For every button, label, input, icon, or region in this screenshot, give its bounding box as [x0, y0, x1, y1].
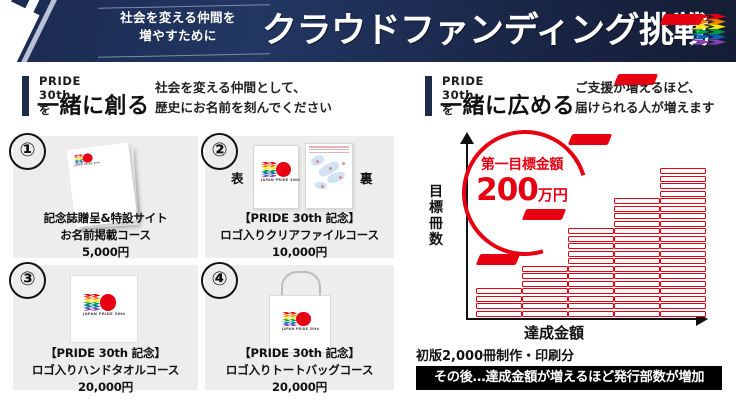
banner-subtitle: 社会を変える仲間を 増やすために [108, 9, 248, 45]
logo-chevron-stripe [91, 297, 101, 300]
book-layer [614, 303, 660, 309]
book-layer [614, 236, 660, 242]
book-layer [614, 288, 660, 294]
book-stack-bar [476, 288, 522, 318]
chevron-stripe [706, 29, 726, 34]
logo-red-circle [296, 312, 310, 326]
book-layer [522, 303, 568, 309]
book-layer [522, 273, 568, 279]
book-layer [614, 258, 660, 264]
book-stack-bar [568, 228, 614, 318]
reward-caption-line2: ロゴ入りトートバッグコース [205, 362, 394, 379]
book-layer [660, 168, 706, 174]
chevron-stripe [706, 19, 726, 24]
book-layer [660, 191, 706, 197]
book-layer [660, 258, 706, 264]
reward-number-badge: ④ [201, 262, 238, 299]
reward-caption: 記念誌贈呈&特設サイト お名前掲載コース 5,000円 [13, 210, 198, 260]
heading-description: 社会を変える仲間として、 歴史にお名前を刻んでください [155, 78, 332, 117]
tote-bag-illustration: JAPAN PRIDE 30th [261, 271, 337, 353]
goal-amount-unit: 万円 [538, 186, 568, 204]
y-axis-label-char: 冊 [426, 216, 446, 232]
heading-title: 一緒に創る [37, 88, 150, 120]
reward-card-3[interactable]: ③ JAPAN PRIDE 30th 【PRIDE 30th 記念】 ロゴ入りハ… [13, 265, 198, 390]
reward-card-4[interactable]: ④ JAPAN PRIDE 30th 【PRIDE 30th 記念】 ロゴ入りト… [205, 265, 394, 390]
book-layer [522, 266, 568, 272]
logo-red-circle [276, 162, 291, 177]
clear-file-front-illustration: JAPAN PRIDE 30th [253, 145, 299, 209]
book-layer [660, 243, 706, 249]
y-axis-label-char: 目 [426, 184, 446, 200]
logo-chevron-stripe [268, 162, 277, 165]
chevron-stripe [706, 39, 726, 44]
reward-caption: 【PRIDE 30th 記念】 ロゴ入りクリアファイルコース 10,000円 [205, 210, 394, 260]
reward-number-badge: ③ [9, 262, 46, 299]
logo-chevron-stripe [289, 324, 298, 326]
book-layer [568, 236, 614, 242]
infographic-page: 社会を変える仲間を 増やすために クラウドファンディング挑戦 PRIDE 30t… [0, 0, 736, 414]
book-layer [568, 281, 614, 287]
book-layer [660, 176, 706, 182]
book-stack-bar [660, 168, 706, 318]
book-layers [614, 198, 660, 317]
book-layer [660, 281, 706, 287]
book-layer [568, 251, 614, 257]
book-layer [568, 243, 614, 249]
logo-chevron-stripe [289, 312, 298, 314]
reward-card-2[interactable]: ② 表 裏 JAPAN PRIDE 30th 【PRIDE 30th 記念】 ロ… [205, 136, 394, 258]
book-layer [522, 296, 568, 302]
book-stack-bar [522, 266, 568, 319]
reward-price: 20,000円 [13, 379, 198, 396]
japan-map-illustration [309, 154, 349, 198]
book-layer [614, 273, 660, 279]
logo-wordmark: JAPAN PRIDE 30th [261, 178, 300, 182]
logo-chevron-stripe [91, 308, 101, 311]
book-layer [568, 258, 614, 264]
book-layer [660, 221, 706, 227]
logo-wordmark: JAPAN PRIDE 30th [83, 312, 125, 316]
book-layer [614, 243, 660, 249]
reward-caption-line1: 記念誌贈呈&特設サイト [13, 210, 198, 227]
growth-highlight-bar: その後…達成金額が増えるほど発行部数が増加 [416, 366, 722, 390]
book-layer [568, 288, 614, 294]
book-layer [614, 311, 660, 317]
hand-towel-illustration: JAPAN PRIDE 30th [70, 275, 138, 343]
logo-chevron-stripe [91, 305, 101, 308]
book-layer [660, 288, 706, 294]
chevron-stripe [706, 24, 726, 29]
book-layers [522, 266, 568, 317]
reward-caption-line2: ロゴ入りハンドタオルコース [13, 362, 198, 379]
x-axis-line [466, 318, 698, 320]
clear-file-back-illustration [305, 143, 353, 209]
book-layer [522, 288, 568, 294]
book-layer [614, 206, 660, 212]
reward-number-badge: ① [9, 133, 46, 170]
x-axis-label: 達成金額 [524, 322, 584, 343]
book-layer [660, 296, 706, 302]
pride-logo-mark: JAPAN PRIDE 30th [261, 162, 295, 180]
banner-rule-bottom [98, 53, 270, 58]
reward-caption-line2: お名前掲載コース [13, 227, 198, 244]
rainbow-chevron-icon-2 [706, 14, 726, 48]
y-axis-label-char: 標 [426, 200, 446, 216]
book-layer [522, 311, 568, 317]
book-layer [614, 266, 660, 272]
book-layer [660, 311, 706, 317]
banner-title: クラウドファンディング挑戦 [262, 5, 708, 57]
book-layer [614, 213, 660, 219]
reward-caption-line1: 【PRIDE 30th 記念】 [13, 345, 198, 362]
book-layer [660, 251, 706, 257]
goal-amount-value: 200 [476, 172, 538, 208]
book-layer [522, 281, 568, 287]
book-layer [568, 311, 614, 317]
goal-annotation-amount: 200万円 [470, 175, 574, 206]
reward-number-badge: ② [201, 133, 238, 170]
back-header-lines [309, 146, 349, 153]
chevron-stripe [706, 14, 726, 19]
reward-caption-line1: 【PRIDE 30th 記念】 [205, 210, 394, 227]
heading-description-line1: 社会を変える仲間として、 [155, 78, 332, 98]
pride-logo-mark: JAPAN PRIDE 30th [282, 312, 314, 329]
book-layer [614, 228, 660, 234]
logo-red-circle [100, 294, 117, 311]
book-layer [568, 273, 614, 279]
logo-chevron-stripe [268, 175, 277, 178]
book-layer [476, 311, 522, 317]
book-layer [660, 213, 706, 219]
book-layers [568, 228, 614, 317]
book-layer [568, 296, 614, 302]
book-layer [660, 183, 706, 189]
y-axis-label-char: 数 [426, 232, 446, 248]
reward-price: 20,000円 [205, 379, 394, 396]
book-top-cover [660, 14, 704, 25]
book-layer [660, 228, 706, 234]
book-layer [660, 206, 706, 212]
book-layers [476, 288, 522, 317]
heading-accent-bar [22, 76, 29, 116]
reward-price: 10,000円 [205, 244, 394, 261]
reward-card-1[interactable]: ① JAPAN PRIDE 30th 記念誌贈呈&特設サイト お名前掲載コース … [13, 136, 198, 258]
book-layer [614, 281, 660, 287]
reward-caption-line2: ロゴ入りクリアファイルコース [205, 227, 394, 244]
goal-annotation-label: 第一目標金額 [470, 154, 574, 174]
book-layer [476, 288, 522, 294]
pride-logo-mark: JAPAN PRIDE 30th [83, 294, 120, 314]
heading-title: 一緒に広める [440, 88, 575, 120]
print-run-note: 初版2,000冊制作・印刷分 [416, 345, 574, 364]
logo-red-circle [82, 153, 92, 163]
book-layer [614, 296, 660, 302]
book-layer [660, 236, 706, 242]
y-axis-label: 目標冊数 [426, 184, 446, 248]
reward-caption: 【PRIDE 30th 記念】 ロゴ入りトートバッグコース 20,000円 [205, 345, 394, 395]
reward-caption-line1: 【PRIDE 30th 記念】 [205, 345, 394, 362]
book-layer [614, 221, 660, 227]
book-stack-bar [614, 198, 660, 318]
banner-subtitle-line1: 社会を変える仲間を [108, 9, 248, 27]
book-layer [660, 303, 706, 309]
heading-description-line2: 歴史にお名前を刻んでください [155, 98, 332, 118]
book-layer [614, 198, 660, 204]
book-layers [660, 168, 706, 317]
book-layer [660, 198, 706, 204]
book-layer [476, 296, 522, 302]
logo-wordmark: JAPAN PRIDE 30th [282, 327, 319, 331]
book-layer [568, 303, 614, 309]
book-top-cover [476, 254, 520, 265]
reward-price: 5,000円 [13, 244, 198, 261]
heading-description-line2: 届けられる人が増えます [575, 98, 715, 118]
goal-bar-chart: 目標冊数 達成金額 第一目標金額 200万円 [414, 132, 730, 337]
book-layer [476, 303, 522, 309]
header-banner: 社会を変える仲間を 増やすために クラウドファンディング挑戦 [0, 0, 736, 62]
book-top-cover [614, 74, 658, 85]
reward-caption: 【PRIDE 30th 記念】 ロゴ入りハンドタオルコース 20,000円 [13, 345, 198, 395]
banner-subtitle-line2: 増やすために [108, 27, 248, 45]
pride-logo-mark: JAPAN PRIDE 30th [73, 153, 95, 167]
front-side-label: 表 [231, 168, 244, 187]
goal-annotation: 第一目標金額 200万円 [470, 154, 574, 206]
book-top-cover [568, 134, 612, 145]
book-layer [568, 266, 614, 272]
book-layer [614, 251, 660, 257]
book-layer [660, 273, 706, 279]
chevron-stripe [706, 34, 726, 39]
book-layer [660, 266, 706, 272]
logo-chevron-stripe [91, 294, 101, 297]
heading-accent-bar [425, 76, 432, 116]
back-side-label: 裏 [360, 168, 373, 187]
